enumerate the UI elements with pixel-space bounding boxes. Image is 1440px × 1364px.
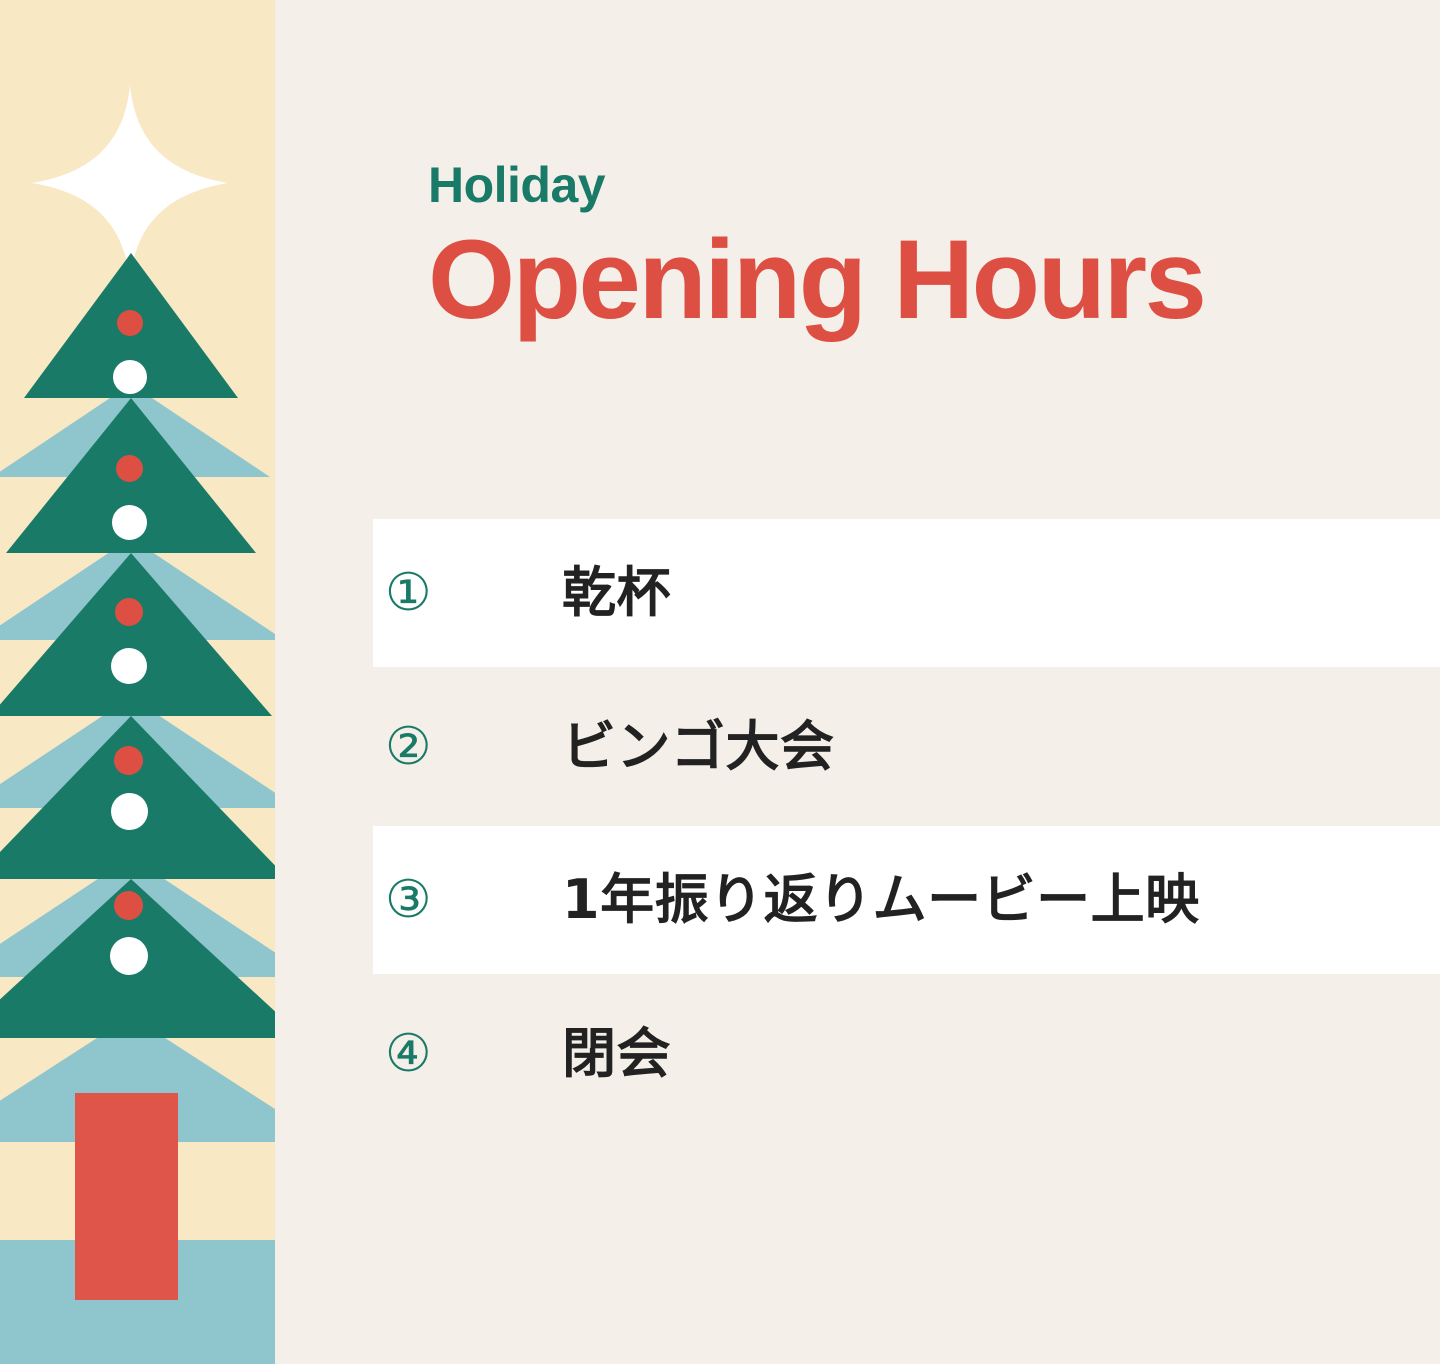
ornament-red-3	[115, 598, 143, 626]
ornament-white-4	[111, 793, 148, 830]
agenda-list: ① 乾杯 ② ビンゴ大会 ③ 1年振り返りムービー上映 ④ 閉会	[373, 519, 1440, 1133]
agenda-row-3-number: ③	[373, 874, 562, 926]
agenda-row-4-number: ④	[373, 1028, 562, 1080]
ornament-white-1	[113, 360, 147, 394]
ornament-red-5	[114, 891, 143, 920]
agenda-row-3-label: 1年振り返りムービー上映	[562, 870, 1200, 929]
four-pointed-star-icon	[32, 85, 228, 281]
ornament-white-2	[112, 505, 147, 540]
agenda-row-4-label: 閉会	[562, 1024, 671, 1083]
ornament-white-3	[111, 648, 147, 684]
agenda-row-3[interactable]: ③ 1年振り返りムービー上映	[373, 826, 1440, 974]
ornament-white-5	[110, 937, 148, 975]
agenda-row-1[interactable]: ① 乾杯	[373, 519, 1440, 667]
ornament-red-1	[117, 310, 143, 336]
heading-block: Holiday Opening Hours	[428, 160, 1388, 336]
tree-tier-green-3	[0, 553, 272, 716]
ornament-red-2	[116, 455, 143, 482]
page-title: Opening Hours	[428, 224, 1388, 336]
agenda-row-2[interactable]: ② ビンゴ大会	[373, 667, 1440, 826]
decorative-side-panel	[0, 0, 275, 1364]
agenda-row-4[interactable]: ④ 閉会	[373, 974, 1440, 1133]
slide-canvas: Holiday Opening Hours ① 乾杯 ② ビンゴ大会 ③ 1年振…	[0, 0, 1440, 1364]
agenda-row-1-label: 乾杯	[562, 563, 671, 622]
tree-trunk	[75, 1093, 178, 1300]
agenda-row-2-number: ②	[373, 721, 562, 773]
eyebrow-heading: Holiday	[428, 160, 1388, 210]
agenda-row-1-number: ①	[373, 567, 562, 619]
ornament-red-4	[114, 746, 143, 775]
agenda-row-2-label: ビンゴ大会	[562, 717, 835, 776]
